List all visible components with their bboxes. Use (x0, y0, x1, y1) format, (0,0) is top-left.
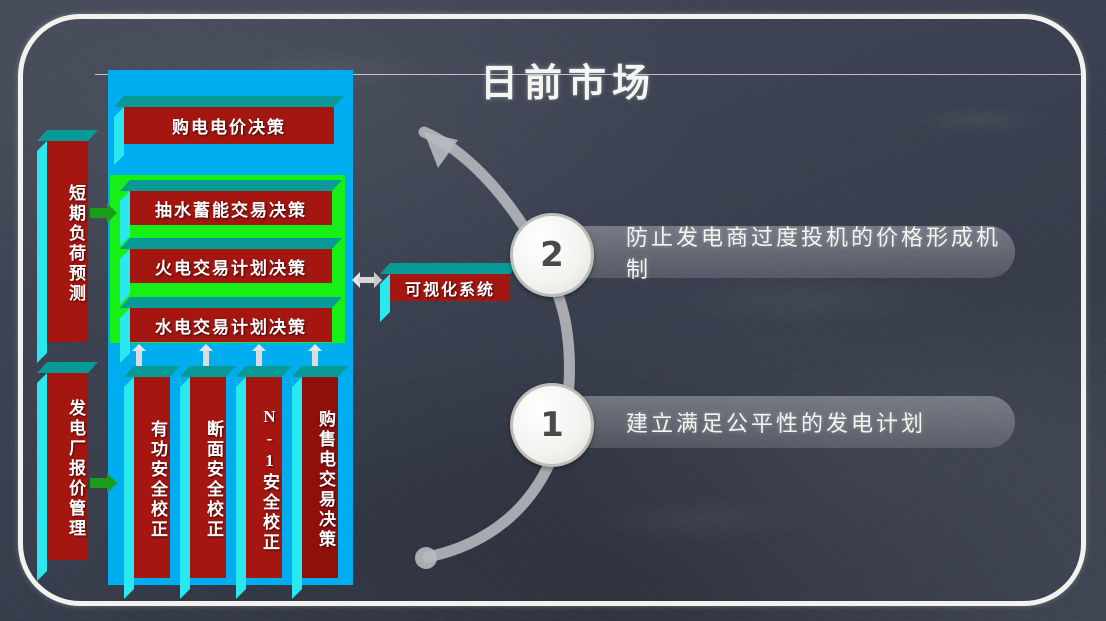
box-label: 抽水蓄能交易决策 (130, 191, 332, 225)
box-purchase-price-decision[interactable]: 购电电价决策 (114, 96, 334, 144)
box-side-face (236, 377, 246, 599)
callout-1[interactable]: 建立满足公平性的发电计划 1 (510, 396, 1015, 448)
box-label: 水电交易计划决策 (130, 308, 332, 342)
box-label: 火电交易计划决策 (130, 249, 332, 283)
box-side-face (292, 377, 302, 599)
input-box-load-forecast[interactable]: 短期负荷预测 (37, 130, 88, 342)
callout-2-number: 2 (510, 213, 594, 297)
box-top-face (380, 263, 520, 274)
box-side-face (114, 107, 124, 165)
column-active-power-security-correction[interactable]: 有功安全校正 (124, 366, 170, 578)
slide-title: 日前市场 (480, 52, 656, 107)
box-label: 购电电价决策 (124, 107, 334, 144)
input-box-plant-bid-management[interactable]: 发电厂报价管理 (37, 362, 88, 560)
column-label: N-1安全校正 (246, 377, 282, 578)
input-box-label: 短期负荷预测 (47, 141, 88, 342)
green-arrow-load-forecast (90, 208, 108, 218)
column-power-trade-decision[interactable]: 购售电交易决策 (292, 366, 338, 578)
slide-canvas: 日前市场 短期负荷预测 发电厂报价管理 购电电价决策 抽水蓄能交易决策 火电交易… (0, 0, 1106, 621)
callout-2-text: 防止发电商过度投机的价格形成机制 (560, 226, 1015, 278)
box-visualization-system[interactable]: 可视化系统 (380, 263, 510, 301)
box-top-face (120, 180, 342, 191)
box-side-face (37, 373, 47, 581)
column-label: 断面安全校正 (190, 377, 226, 578)
box-label: 可视化系统 (390, 274, 510, 301)
green-arrow-plant-bid (90, 478, 108, 488)
box-top-face (120, 297, 342, 308)
column-n-1-security-correction[interactable]: N-1安全校正 (236, 366, 282, 578)
callout-1-number: 1 (510, 383, 594, 467)
input-box-label: 发电厂报价管理 (47, 373, 88, 560)
box-top-face (120, 238, 342, 249)
double-arrow-visualization-link (352, 272, 382, 288)
column-section-security-correction[interactable]: 断面安全校正 (180, 366, 226, 578)
box-thermal-trade-plan-decision[interactable]: 火电交易计划决策 (120, 238, 332, 283)
callout-2[interactable]: 防止发电商过度投机的价格形成机制 2 (510, 226, 1015, 278)
box-top-face (114, 96, 344, 107)
box-side-face (124, 377, 134, 599)
box-side-face (180, 377, 190, 599)
callout-1-text: 建立满足公平性的发电计划 (560, 396, 1015, 448)
box-hydro-trade-plan-decision[interactable]: 水电交易计划决策 (120, 297, 332, 342)
box-top-face (37, 362, 98, 373)
column-label: 购售电交易决策 (302, 377, 338, 578)
column-label: 有功安全校正 (134, 377, 170, 578)
box-top-face (37, 130, 98, 141)
box-pumped-storage-trade-decision[interactable]: 抽水蓄能交易决策 (120, 180, 332, 225)
curved-flow-arrow (380, 110, 640, 610)
box-side-face (37, 141, 47, 363)
